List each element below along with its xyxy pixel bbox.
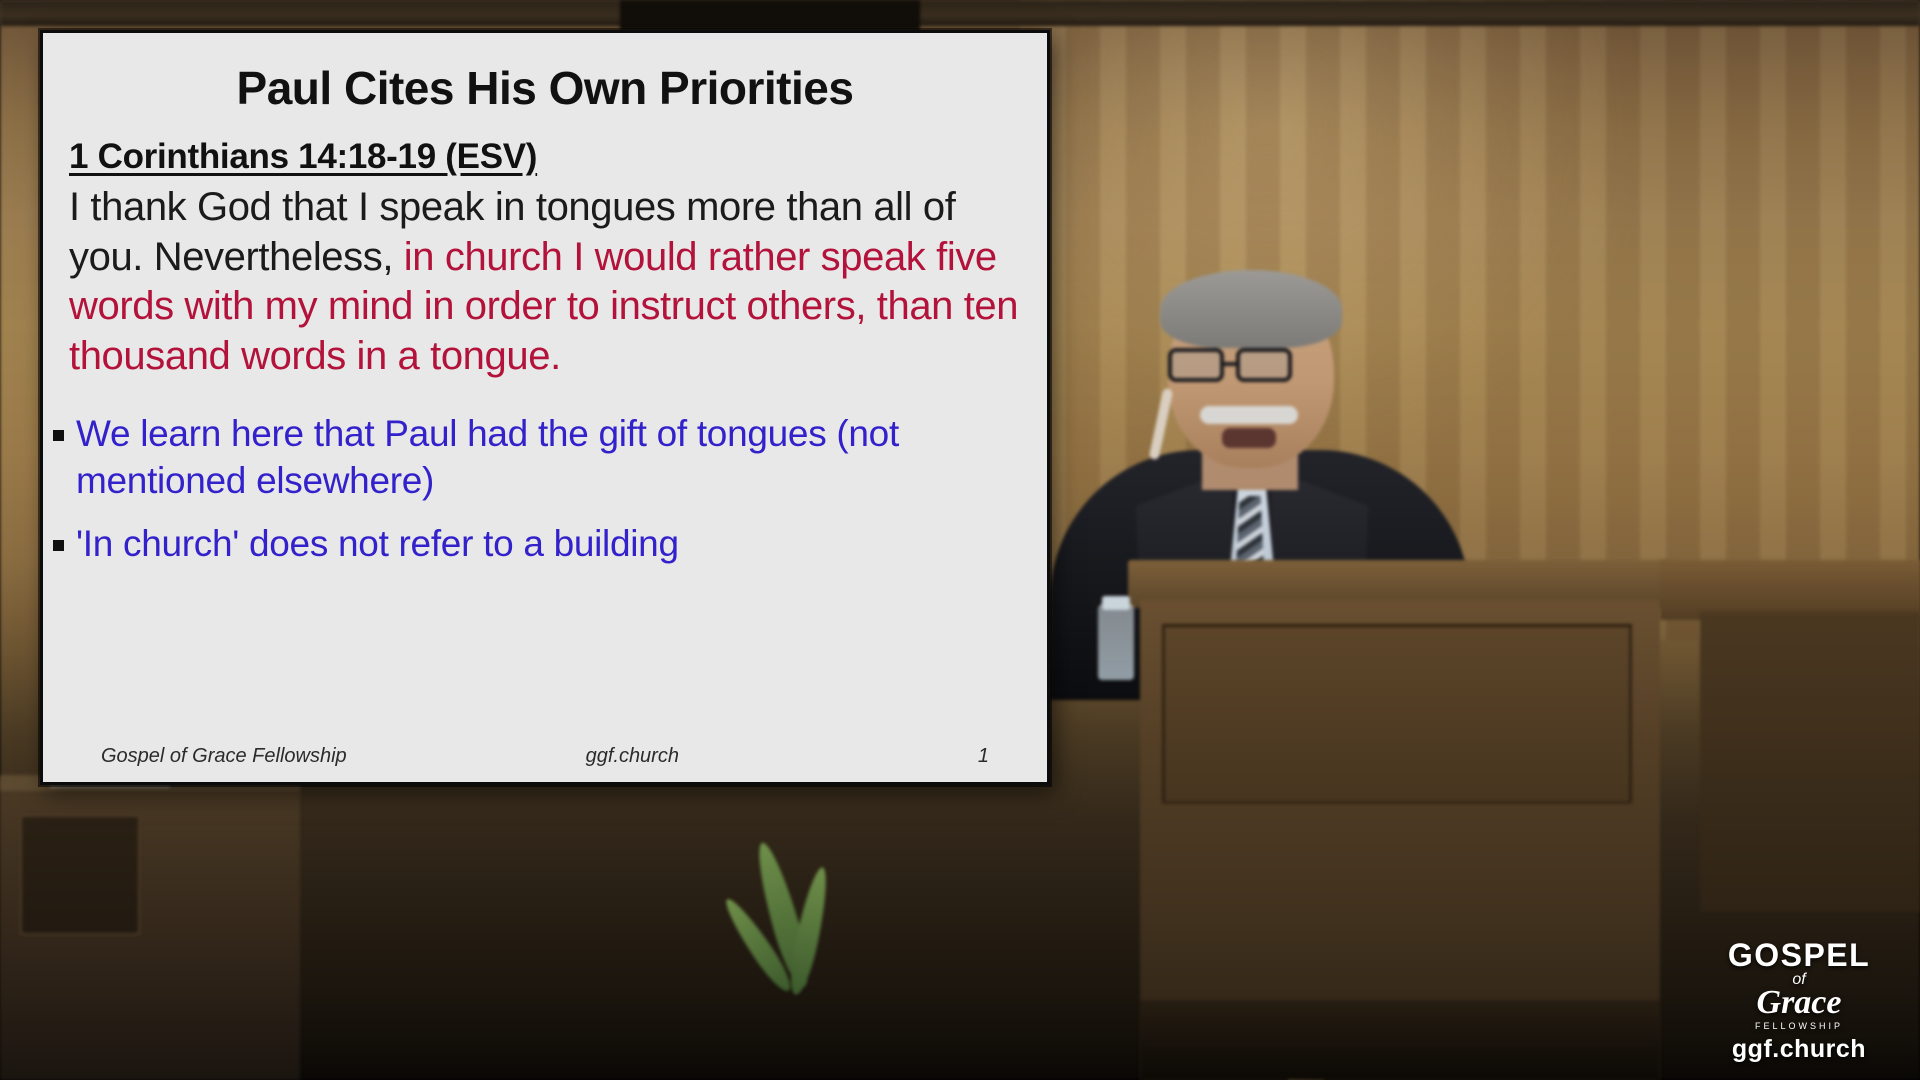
ceiling-beam-dark-segment [620, 0, 920, 30]
list-item: We learn here that Paul had the gift of … [53, 411, 1017, 505]
pulpit-front-panel [1162, 624, 1632, 804]
stream-stage: Paul Cites His Own Priorities 1 Corinthi… [0, 0, 1920, 1080]
footer-page-number: 1 [978, 745, 989, 768]
logo-gospel-text: GOSPEL [1704, 939, 1894, 971]
ceiling-beam [0, 0, 1920, 26]
logo-url-text: ggf.church [1704, 1037, 1894, 1062]
side-cabinet-panel [20, 815, 140, 935]
presentation-slide: Paul Cites His Own Priorities 1 Corinthi… [40, 30, 1050, 785]
scripture-text: I thank God that I speak in tongues more… [69, 183, 1021, 381]
logo-grace-text: Grace [1704, 986, 1894, 1020]
bullet-list: We learn here that Paul had the gift of … [43, 411, 1047, 568]
bullet-text: 'In church' does not refer to a building [76, 521, 679, 568]
speaker-mustache [1200, 406, 1298, 424]
slide-footer: Gospel of Grace Fellowship ggf.church 1 [43, 745, 1047, 768]
scripture-reference: 1 Corinthians 14:18-19 (ESV) [69, 137, 537, 177]
logo-fellowship-text: FELLOWSHIP [1704, 1022, 1894, 1031]
pulpit-shadow [1140, 1000, 1660, 1080]
platform-rail [1660, 560, 1920, 620]
potted-plant [740, 830, 860, 1080]
eyeglasses-right-lens [1236, 348, 1292, 382]
headset-microphone [1149, 388, 1174, 461]
footer-website: ggf.church [287, 745, 978, 768]
eyeglasses-left-lens [1168, 348, 1224, 382]
list-item: 'In church' does not refer to a building [53, 521, 1017, 568]
bullet-text: We learn here that Paul had the gift of … [76, 411, 1017, 505]
channel-logo-watermark: GOSPEL of Grace FELLOWSHIP ggf.church [1704, 939, 1894, 1062]
square-bullet-icon [53, 430, 64, 441]
scripture-block: 1 Corinthians 14:18-19 (ESV) I thank God… [43, 137, 1047, 381]
slide-title: Paul Cites His Own Priorities [43, 61, 1047, 115]
speaker-mouth [1222, 428, 1276, 448]
eyeglasses-bridge [1224, 362, 1238, 366]
water-bottle [1098, 604, 1134, 680]
platform-rail-post [1700, 612, 1920, 912]
square-bullet-icon [53, 540, 64, 551]
water-bottle-cap [1102, 596, 1130, 610]
speaker-hair [1160, 270, 1342, 348]
